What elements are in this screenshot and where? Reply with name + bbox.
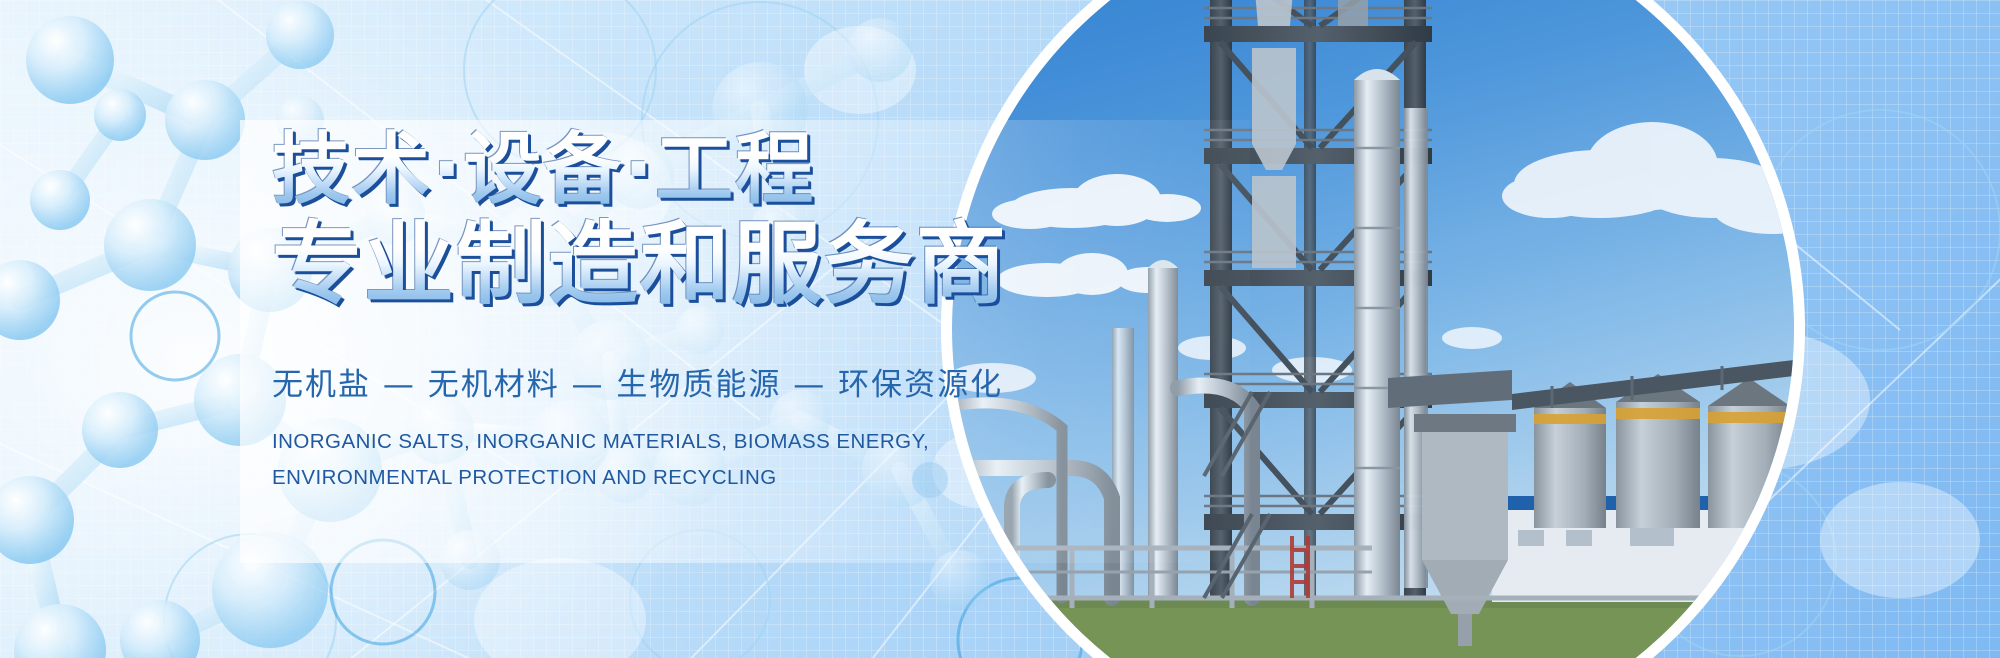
- subtitle-chinese: 无机盐 — 无机材料 — 生物质能源 — 环保资源化: [272, 359, 1272, 404]
- hero-banner: 技术·设备·工程 专业制造和服务商 无机盐 — 无机材料 — 生物质能源 — 环…: [0, 0, 2000, 658]
- headline-line-1: 技术·设备·工程: [272, 128, 1272, 212]
- subtitle-english: INORGANIC SALTS, INORGANIC MATERIALS, BI…: [272, 424, 932, 496]
- banner-content: 技术·设备·工程 专业制造和服务商 无机盐 — 无机材料 — 生物质能源 — 环…: [272, 128, 1272, 496]
- headline-line-2: 专业制造和服务商: [272, 216, 1272, 313]
